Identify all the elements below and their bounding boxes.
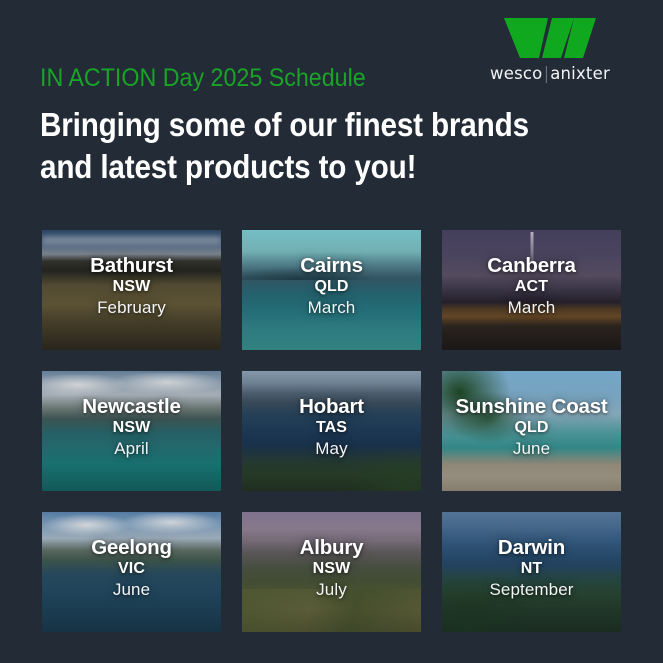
schedule-card-albury[interactable]: Albury NSW July bbox=[242, 512, 421, 632]
eyebrow-text: IN ACTION Day 2025 Schedule bbox=[40, 66, 366, 91]
card-text: Hobart TAS May bbox=[242, 396, 421, 466]
wesco-w-mark-icon bbox=[502, 16, 598, 60]
schedule-card-sunshine-coast[interactable]: Sunshine Coast QLD June bbox=[442, 371, 621, 491]
card-state: NSW bbox=[42, 277, 221, 297]
schedule-card-bathurst[interactable]: Bathurst NSW February bbox=[42, 230, 221, 350]
card-city: Geelong bbox=[42, 537, 221, 559]
wordmark-wesco: wesco bbox=[490, 64, 542, 83]
card-text: Sunshine Coast QLD June bbox=[442, 396, 621, 467]
card-city: Hobart bbox=[242, 396, 421, 418]
card-state: NSW bbox=[42, 418, 221, 438]
card-text: Canberra ACT March bbox=[442, 255, 621, 325]
card-city: Canberra bbox=[442, 255, 621, 277]
schedule-card-darwin[interactable]: Darwin NT September bbox=[442, 512, 621, 632]
page-title-line-2: and latest products to you! bbox=[40, 146, 580, 188]
header: wesco|anixter IN ACTION Day 2025 Schedul… bbox=[0, 0, 663, 220]
card-city: Bathurst bbox=[42, 255, 221, 277]
schedule-card-newcastle[interactable]: Newcastle NSW April bbox=[42, 371, 221, 491]
card-month: March bbox=[442, 297, 621, 319]
schedule-card-canberra[interactable]: Canberra ACT March bbox=[442, 230, 621, 350]
card-state: ACT bbox=[442, 277, 621, 297]
card-text: Cairns QLD March bbox=[242, 255, 421, 325]
card-state: NT bbox=[442, 559, 621, 579]
card-state: VIC bbox=[42, 559, 221, 579]
card-city: Albury bbox=[242, 537, 421, 559]
card-text: Darwin NT September bbox=[442, 537, 621, 607]
card-state: TAS bbox=[242, 418, 421, 438]
card-state: NSW bbox=[242, 559, 421, 579]
schedule-grid: Bathurst NSW February Cairns QLD March C… bbox=[42, 230, 621, 632]
card-state: QLD bbox=[242, 277, 421, 297]
schedule-card-geelong[interactable]: Geelong VIC June bbox=[42, 512, 221, 632]
card-state: QLD bbox=[442, 418, 621, 438]
brand-wordmark: wesco|anixter bbox=[475, 64, 625, 83]
card-text: Bathurst NSW February bbox=[42, 255, 221, 325]
poster-root: wesco|anixter IN ACTION Day 2025 Schedul… bbox=[0, 0, 663, 663]
card-text: Albury NSW July bbox=[242, 537, 421, 607]
card-month: June bbox=[442, 438, 621, 460]
card-city: Newcastle bbox=[42, 396, 221, 418]
schedule-card-cairns[interactable]: Cairns QLD March bbox=[242, 230, 421, 350]
schedule-card-hobart[interactable]: Hobart TAS May bbox=[242, 371, 421, 491]
card-text: Newcastle NSW April bbox=[42, 396, 221, 466]
brand-logo: wesco|anixter bbox=[475, 16, 625, 83]
card-month: February bbox=[42, 297, 221, 319]
card-month: July bbox=[242, 579, 421, 601]
page-title-line-1: Bringing some of our finest brands bbox=[40, 104, 580, 146]
wordmark-anixter: anixter bbox=[550, 64, 610, 83]
card-month: March bbox=[242, 297, 421, 319]
page-title: Bringing some of our finest brands and l… bbox=[40, 104, 580, 188]
card-month: April bbox=[42, 438, 221, 460]
card-text: Geelong VIC June bbox=[42, 537, 221, 607]
card-month: May bbox=[242, 438, 421, 460]
card-month: June bbox=[42, 579, 221, 601]
card-city: Sunshine Coast bbox=[442, 396, 621, 418]
card-city: Darwin bbox=[442, 537, 621, 559]
card-city: Cairns bbox=[242, 255, 421, 277]
card-month: September bbox=[442, 579, 621, 601]
